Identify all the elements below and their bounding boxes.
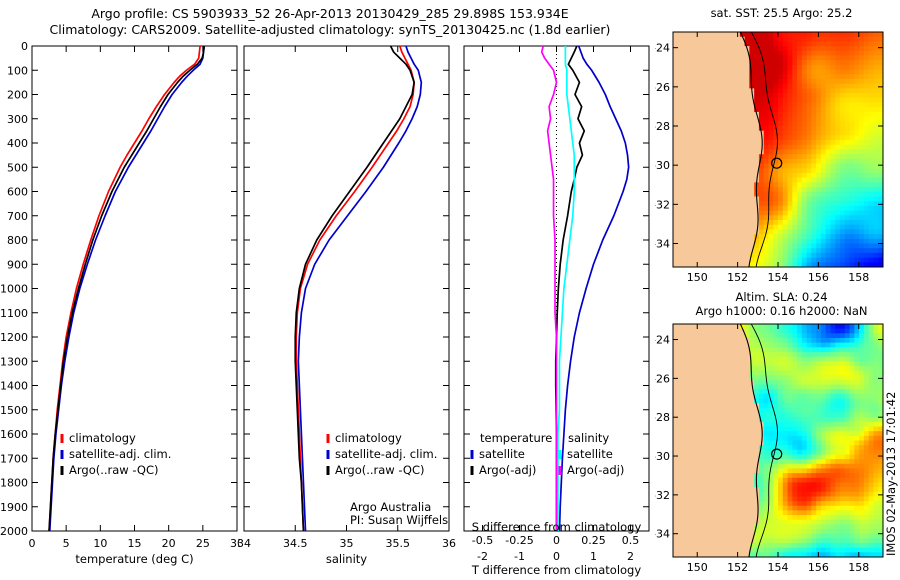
map-cell [873,258,878,263]
map-cell [840,543,845,548]
map-cell [850,324,855,329]
map-cell [702,464,707,469]
map-cell [706,168,711,173]
map-cell [807,492,812,497]
map-cell [735,403,740,408]
map-cell [687,441,692,446]
map-cell [869,197,874,202]
map-cell [845,234,850,239]
map-cell [721,126,726,131]
map-cell [673,253,678,258]
map-cell [864,464,869,469]
map-cell [759,88,764,93]
map-cell [845,178,850,183]
map-cell [816,501,821,506]
map-cell [826,79,831,84]
map-cell [835,215,840,220]
map-cell [826,65,831,70]
map-cell [773,112,778,117]
map-cell [745,215,750,220]
map-cell [721,51,726,56]
map-cell [873,436,878,441]
map-cell [864,501,869,506]
map-cell [869,112,874,117]
map-cell [706,74,711,79]
map-cell [802,258,807,263]
map-cell [859,60,864,65]
map-cell [711,225,716,230]
map-cell [740,168,745,173]
map-cell [826,93,831,98]
map-cell [788,41,793,46]
map-cell [764,352,769,357]
map-cell [864,178,869,183]
map-cell [864,473,869,478]
map-cell [869,56,874,61]
map-cell [678,459,683,464]
salinity-panel[interactable]: 3434.53535.536salinityclimatologysatelli… [238,38,466,578]
map-cell [859,215,864,220]
map-cell [735,164,740,169]
map-cell [711,145,716,150]
map-cell [678,51,683,56]
map-cell [726,131,731,136]
map-cell [706,70,711,75]
map-cell [792,338,797,343]
map-cell [716,32,721,37]
map-cell [797,103,802,108]
map-cell [869,239,874,244]
map-cell [821,450,826,455]
map-cell [807,441,812,446]
map-cell [854,473,859,478]
map-cell [821,239,826,244]
map-cell [673,258,678,263]
map-cell [807,93,812,98]
map-cell [697,51,702,56]
map-cell [768,93,773,98]
map-cell [821,117,826,122]
map-cell [811,211,816,216]
map-cell [768,140,773,145]
map-cell [840,244,845,249]
map-cell [740,126,745,131]
map-cell [773,41,778,46]
map-cell [716,126,721,131]
map-cell [854,413,859,418]
map-cell [721,338,726,343]
map-cell [716,501,721,506]
map-cell [854,422,859,427]
map-cell [869,399,874,404]
map-cell [835,375,840,380]
map-cell [687,112,692,117]
map-cell [768,543,773,548]
sla-map[interactable]: 150152154156158-24-26-28-30-32-34 [655,314,900,580]
map-cell [697,131,702,136]
map-cell [873,70,878,75]
map-cell [697,107,702,112]
map-cell [711,112,716,117]
map-cell [811,496,816,501]
map-cell [811,60,816,65]
map-cell [873,478,878,483]
map-cell [821,413,826,418]
map-cell [835,126,840,131]
map-cell [797,501,802,506]
map-cell [802,352,807,357]
map-cell [792,506,797,511]
map-cell [831,482,836,487]
x-tick-label: 20 [162,537,176,550]
map-cell [792,487,797,492]
map-cell [706,145,711,150]
map-cell [716,436,721,441]
map-cell [726,37,731,42]
map-cell [783,492,788,497]
map-cell [821,343,826,348]
map-cell [811,422,816,427]
map-cell [854,338,859,343]
temperature-panel[interactable]: 0100200300400500600700800900100011001200… [0,38,240,578]
map-cell [730,352,735,357]
map-cell [773,403,778,408]
map-cell [706,206,711,211]
map-cell [716,135,721,140]
map-y-tick-label: -34 [655,238,670,251]
map-cell [759,206,764,211]
map-cell [730,399,735,404]
map-cell [697,197,702,202]
map-cell [754,441,759,446]
map-cell [864,361,869,366]
map-cell [811,445,816,450]
map-cell [802,385,807,390]
map-cell [788,239,793,244]
map-cell [831,338,836,343]
map-cell [869,524,874,529]
map-cell [768,329,773,334]
map-cell [683,140,688,145]
map-cell [869,389,874,394]
map-cell [745,211,750,216]
map-cell [802,515,807,520]
map-cell [683,459,688,464]
map-cell [721,206,726,211]
map-cell [692,389,697,394]
map-cell [840,399,845,404]
legend-label: Argo(..raw -QC) [69,463,159,477]
map-cell [721,41,726,46]
map-cell [873,225,878,230]
map-cell [845,347,850,352]
map-cell [859,524,864,529]
map-cell [788,70,793,75]
map-cell [759,173,764,178]
map-cell [816,482,821,487]
map-cell [673,65,678,70]
map-cell [816,366,821,371]
map-cell [873,450,878,455]
map-cell [854,192,859,197]
map-cell [807,413,812,418]
map-cell [864,385,869,390]
map-cell [778,403,783,408]
map-cell [864,32,869,37]
map-cell [869,329,874,334]
map-cell [821,357,826,362]
map-cell [702,427,707,432]
map-cell [745,529,750,534]
map-cell [711,70,716,75]
map-cell [711,548,716,553]
map-cell [845,197,850,202]
map-cell [726,529,731,534]
map-cell [702,206,707,211]
map-cell [683,168,688,173]
map-cell [802,529,807,534]
map-cell [826,145,831,150]
map-cell [807,126,812,131]
map-cell [773,333,778,338]
map-cell [816,450,821,455]
map-cell [773,492,778,497]
map-cell [807,482,812,487]
map-cell [850,375,855,380]
map-cell [831,74,836,79]
map-cell [740,403,745,408]
map-cell [745,182,750,187]
map-cell [764,140,769,145]
map-cell [711,168,716,173]
map-cell [854,445,859,450]
map-x-tick-label: 154 [768,561,789,574]
map-cell [840,338,845,343]
map-cell [702,450,707,455]
map-cell [726,347,731,352]
map-cell [859,436,864,441]
map-cell [683,436,688,441]
map-cell [788,441,793,446]
map-cell [778,329,783,334]
map-cell [706,338,711,343]
map-cell [702,154,707,159]
map-cell [797,253,802,258]
map-cell [802,403,807,408]
map-cell [716,492,721,497]
map-cell [864,244,869,249]
map-cell [797,492,802,497]
map-cell [706,501,711,506]
map-cell [788,510,793,515]
map-cell [783,422,788,427]
map-cell [745,84,750,89]
map-cell [845,253,850,258]
map-cell [802,107,807,112]
map-cell [745,543,750,548]
map-cell [749,441,754,446]
difference-panel[interactable]: temperaturesalinitysatelliteArgo(-adj)sa… [458,38,663,578]
map-cell [711,422,716,427]
map-cell [730,37,735,42]
map-cell [783,41,788,46]
map-cell [759,403,764,408]
map-cell [702,417,707,422]
map-cell [840,333,845,338]
map-cell [831,41,836,46]
map-cell [783,215,788,220]
map-cell [811,164,816,169]
map-cell [816,121,821,126]
map-cell [831,361,836,366]
map-cell [702,352,707,357]
map-cell [726,192,731,197]
map-cell [869,496,874,501]
map-cell [864,197,869,202]
map-cell [726,150,731,155]
map-cell [845,248,850,253]
map-cell [821,478,826,483]
map-cell [826,399,831,404]
map-cell [826,468,831,473]
map-cell [864,215,869,220]
map-cell [864,506,869,511]
map-cell [730,501,735,506]
map-cell [721,459,726,464]
map-cell [869,253,874,258]
map-cell [773,168,778,173]
map-cell [773,496,778,501]
map-cell [735,352,740,357]
map-cell [716,487,721,492]
map-cell [702,534,707,539]
map-cell [768,220,773,225]
map-cell [869,140,874,145]
map-cell [788,501,793,506]
map-cell [706,385,711,390]
map-cell [678,211,683,216]
map-cell [821,126,826,131]
map-cell [678,140,683,145]
map-cell [730,524,735,529]
map-cell [840,84,845,89]
map-cell [802,333,807,338]
map-cell [673,487,678,492]
map-cell [716,253,721,258]
map-cell [711,492,716,497]
map-cell [768,538,773,543]
map-cell [831,187,836,192]
map-cell [764,201,769,206]
map-cell [826,427,831,432]
map-cell [687,506,692,511]
x-tick-label: 10 [93,537,107,550]
map-cell [797,454,802,459]
map-cell [721,164,726,169]
sst-map[interactable]: 150152154156158-24-26-28-30-32-34 [655,22,900,290]
map-cell [807,220,812,225]
map-cell [850,468,855,473]
map-cell [740,473,745,478]
map-cell [788,464,793,469]
map-cell [716,529,721,534]
map-cell [754,385,759,390]
map-cell [811,150,816,155]
map-cell [807,394,812,399]
map-cell [735,93,740,98]
map-cell [735,450,740,455]
map-cell [854,187,859,192]
map-cell [854,501,859,506]
map-cell [740,201,745,206]
map-cell [730,178,735,183]
legend-label: Argo(..raw -QC) [335,463,425,477]
map-cell [721,244,726,249]
map-cell [692,248,697,253]
map-cell [759,32,764,37]
map-cell [826,168,831,173]
map-cell [726,70,731,75]
map-cell [759,473,764,478]
map-cell [826,422,831,427]
map-cell [735,473,740,478]
map-cell [816,56,821,61]
map-cell [711,32,716,37]
map-cell [778,107,783,112]
map-cell [792,385,797,390]
map-cell [854,56,859,61]
map-cell [873,79,878,84]
map-cell [702,150,707,155]
map-y-tick-label: -28 [655,411,670,424]
map-cell [687,187,692,192]
map-cell [826,70,831,75]
map-cell [854,352,859,357]
map-cell [840,520,845,525]
map-cell [797,347,802,352]
map-cell [754,98,759,103]
map-cell [778,126,783,131]
map-cell [816,159,821,164]
map-cell [735,168,740,173]
map-cell [873,482,878,487]
map-cell [840,51,845,56]
map-cell [821,229,826,234]
map-cell [735,413,740,418]
map-cell [749,445,754,450]
map-cell [854,450,859,455]
s-tick-label: 0.5 [622,534,640,547]
map-cell [840,529,845,534]
map-cell [721,375,726,380]
map-cell [692,375,697,380]
map-cell [816,103,821,108]
map-cell [678,473,683,478]
map-cell [730,441,735,446]
map-cell [749,51,754,56]
map-cell [711,56,716,61]
map-cell [845,93,850,98]
map-cell [721,482,726,487]
map-cell [740,93,745,98]
map-cell [678,538,683,543]
map-cell [697,385,702,390]
map-cell [768,150,773,155]
map-cell [687,46,692,51]
map-cell [678,468,683,473]
map-cell [687,454,692,459]
map-cell [711,329,716,334]
